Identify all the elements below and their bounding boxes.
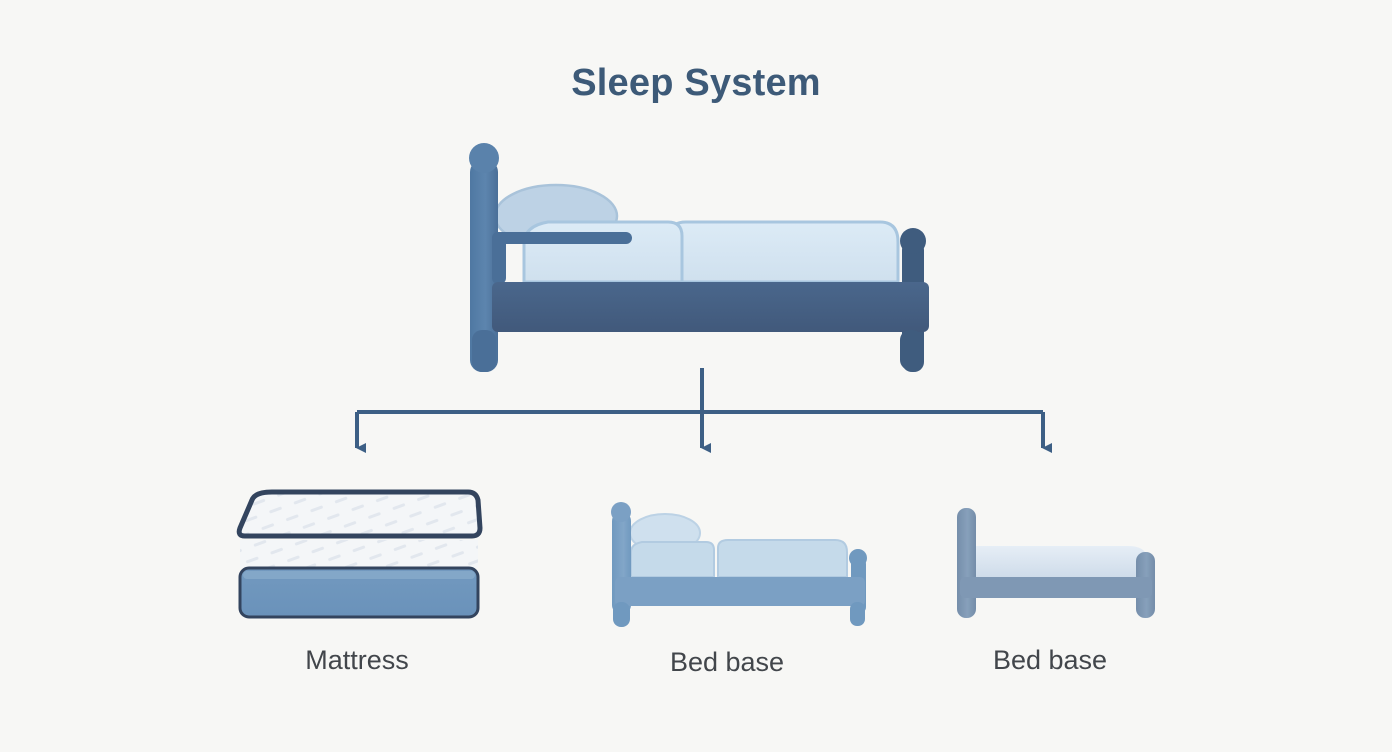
footboard-finial — [900, 228, 926, 254]
label-mattress: Mattress — [305, 645, 409, 675]
bed-base-leg-left — [613, 602, 630, 627]
sleep-system-diagram: Sleep System — [0, 0, 1392, 752]
headboard-rail-drop — [492, 232, 506, 284]
bed-base-duvet-shape — [718, 540, 847, 577]
mattress-illustration — [239, 492, 480, 617]
headboard-finial — [469, 143, 499, 173]
duvet-shape — [672, 222, 898, 282]
background — [0, 0, 1392, 752]
bed-frame-slab — [975, 546, 1148, 577]
bed-frame-headboard-post — [957, 508, 976, 618]
diagram-canvas: Sleep System — [0, 0, 1392, 752]
mattress-top-surface — [239, 492, 480, 536]
bed-base-headboard-finial — [611, 502, 631, 522]
bed-base-leg-right — [850, 602, 865, 626]
bed-base-footboard-finial — [849, 549, 867, 567]
headboard-rail — [492, 232, 632, 244]
label-bed-base-simple: Bed base — [993, 645, 1107, 675]
mattress-shape — [524, 222, 682, 282]
bed-frame-rail — [960, 577, 1152, 598]
bed-base-frame-rail — [615, 577, 865, 606]
bed-leg-right — [900, 330, 922, 370]
label-bed-base-frame: Bed base — [670, 647, 784, 677]
page-title: Sleep System — [571, 62, 821, 104]
mattress-base-highlight — [243, 571, 475, 579]
mattress-quilt-band — [240, 540, 478, 568]
bed-frame-rail — [492, 282, 929, 332]
bed-base-mattress-shape — [631, 542, 714, 577]
bed-leg-left — [472, 330, 496, 372]
